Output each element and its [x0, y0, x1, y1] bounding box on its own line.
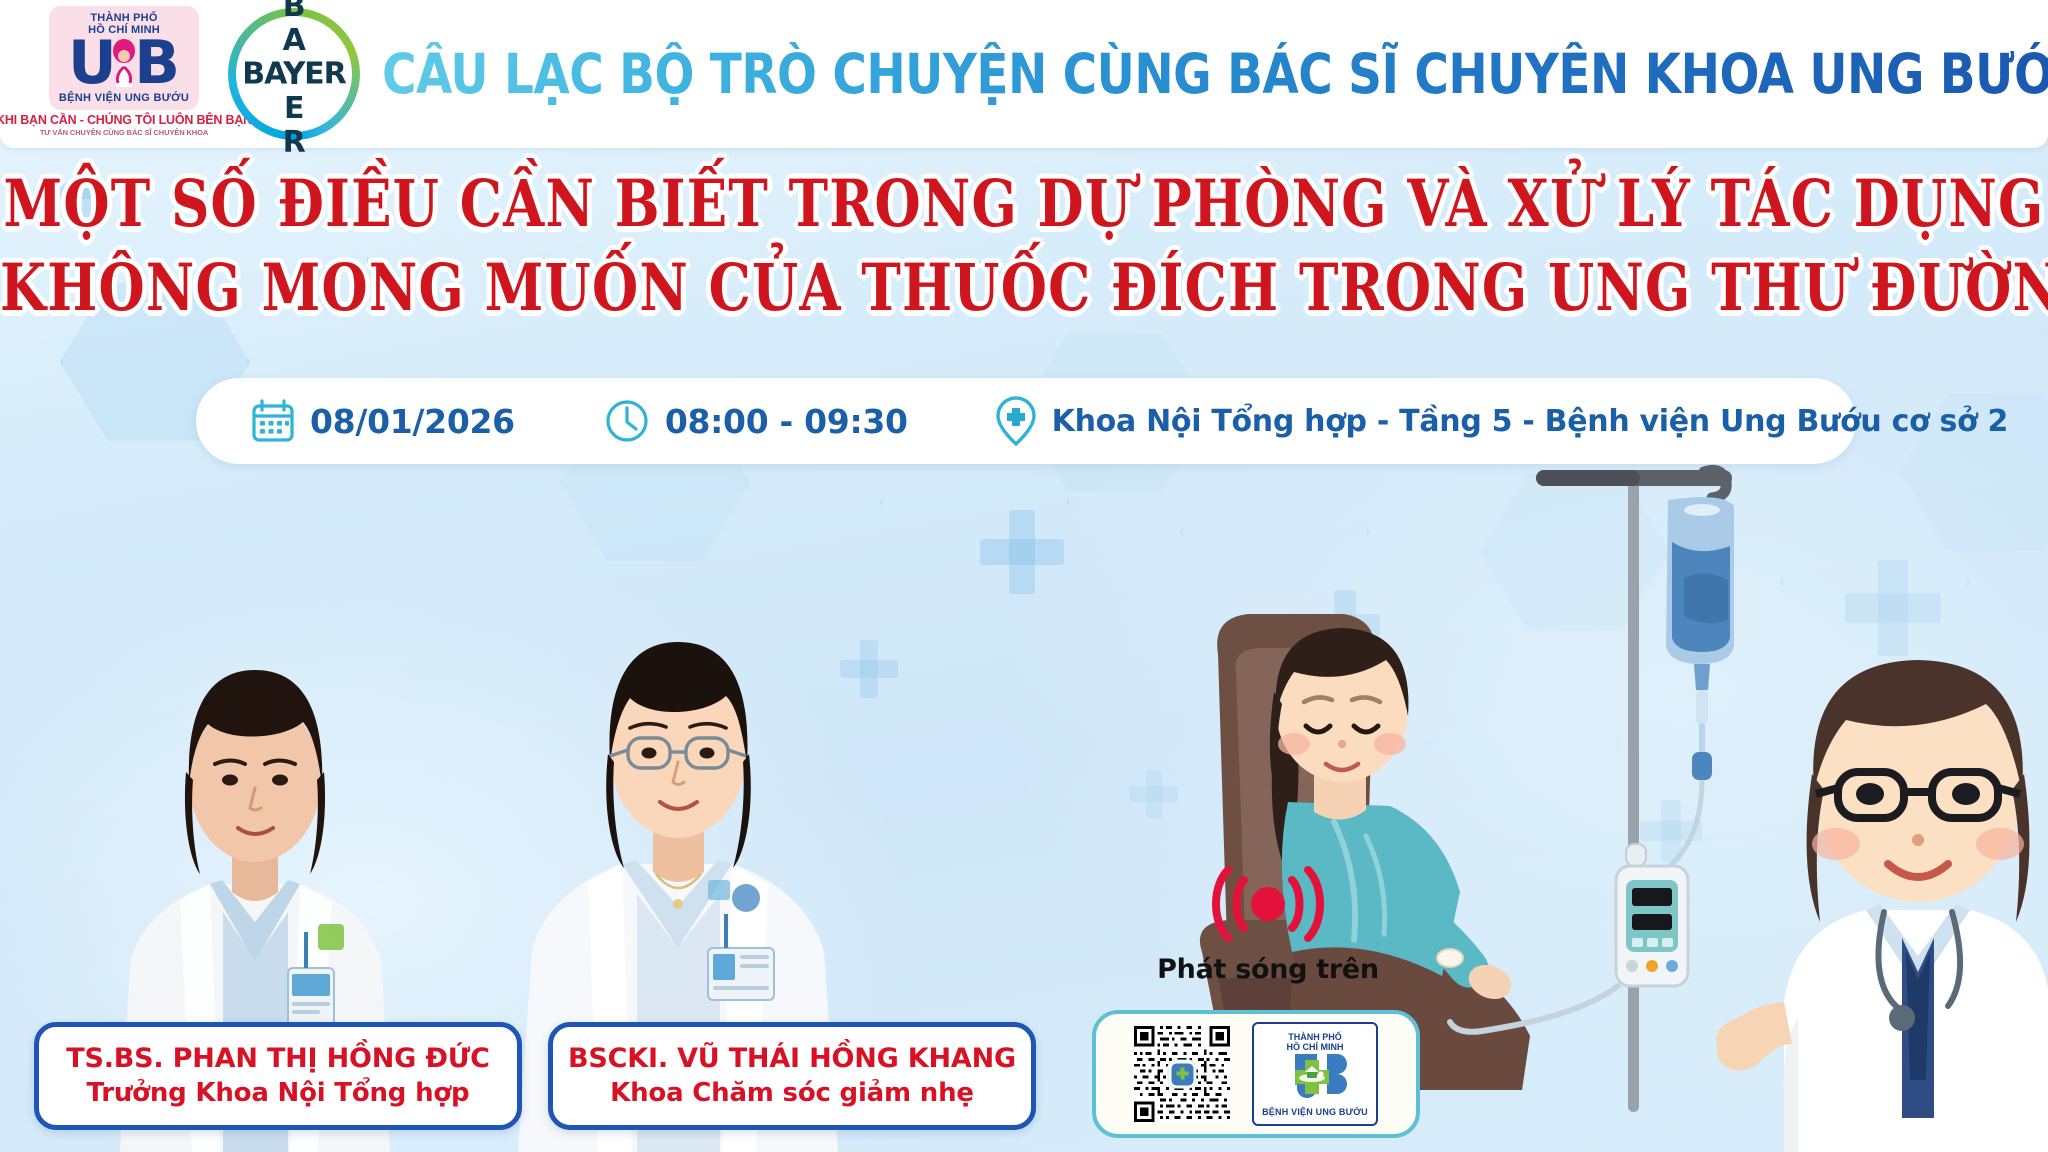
bayer-logo: BAYER BAYER — [228, 8, 360, 140]
speaker-1-name: TS.BS. PHAN THỊ HỒNG ĐỨC — [66, 1042, 489, 1076]
standing-doctor-figure — [1716, 660, 2048, 1152]
qr-logo-monogram-icon — [1277, 1052, 1353, 1104]
map-pin-medical-icon — [994, 395, 1038, 447]
clock-icon — [603, 397, 651, 445]
event-location: Khoa Nội Tổng hợp - Tầng 5 - Bệnh viện U… — [994, 395, 2008, 447]
broadcast-label: Phát sóng trên — [1157, 954, 1379, 985]
speaker-nameplate-2: BSCKI. VŨ THÁI HỒNG KHANG Khoa Chăm sóc … — [548, 1022, 1036, 1130]
poster-canvas: THÀNH PHỐ HỒ CHÍ MINH U B BỆNH VIỆN UNG … — [0, 0, 2048, 1152]
hospital-logo: THÀNH PHỐ HỒ CHÍ MINH U B BỆNH VIỆN UNG … — [26, 0, 222, 148]
event-time: 08:00 - 09:30 — [603, 397, 908, 445]
header-bar: THÀNH PHỐ HỒ CHÍ MINH U B BỆNH VIỆN UNG … — [0, 0, 2048, 148]
monogram-b: B — [134, 37, 180, 89]
ribbon-person-icon — [109, 39, 139, 89]
event-info-bar: 08/01/2026 08:00 - 09:30 Khoa Nội Tổng h… — [196, 378, 1856, 464]
hospital-subtagline: TƯ VẤN CHUYÊN CÙNG BÁC SĨ CHUYÊN KHOA — [40, 128, 208, 137]
bayer-inner: BAYER BAYER — [236, 16, 352, 132]
qr-center-logo-icon — [1169, 1061, 1196, 1088]
speaker-2-role: Khoa Chăm sóc giảm nhẹ — [610, 1076, 974, 1110]
event-date-text: 08/01/2026 — [310, 402, 515, 441]
header-title: CÂU LẠC BỘ TRÒ CHUYỆN CÙNG BÁC SĨ CHUYÊN… — [360, 42, 2048, 107]
qr-code-icon[interactable] — [1134, 1026, 1230, 1122]
speaker-2-name: BSCKI. VŨ THÁI HỒNG KHANG — [568, 1042, 1016, 1076]
live-broadcast-icon — [1208, 862, 1328, 946]
event-time-text: 08:00 - 09:30 — [665, 402, 908, 441]
event-title-line-2: KHÔNG MONG MUỐN CỦA THUỐC ĐÍCH TRONG UNG… — [0, 247, 2048, 330]
event-title-line-1: MỘT SỐ ĐIỀU CẦN BIẾT TRONG DỰ PHÒNG VÀ X… — [0, 163, 2048, 246]
broadcast-block: Phát sóng trên — [1148, 862, 1388, 985]
speaker-1-role: Trưởng Khoa Nội Tổng hợp — [87, 1076, 470, 1110]
hospital-tagline: KHI BẠN CẦN - CHÚNG TÔI LUÔN BÊN BẠN — [0, 113, 252, 127]
qr-card[interactable]: THÀNH PHỐ HỒ CHÍ MINH BỆNH VIỆN UNG BƯỚU — [1092, 1010, 1420, 1138]
event-location-text: Khoa Nội Tổng hợp - Tầng 5 - Bệnh viện U… — [1052, 404, 2008, 439]
qr-hospital-logo: THÀNH PHỐ HỒ CHÍ MINH BỆNH VIỆN UNG BƯỚU — [1252, 1022, 1378, 1126]
calendar-icon — [250, 398, 296, 444]
qr-logo-name: BỆNH VIỆN UNG BƯỚU — [1262, 1107, 1368, 1117]
speaker-nameplate-1: TS.BS. PHAN THỊ HỒNG ĐỨC Trưởng Khoa Nội… — [34, 1022, 522, 1130]
hospital-logo-card: THÀNH PHỐ HỒ CHÍ MINH U B BỆNH VIỆN UNG … — [49, 6, 199, 110]
bayer-horizontal-text: BAYER — [242, 57, 346, 92]
hospital-monogram-icon: U B — [66, 37, 182, 91]
event-date: 08/01/2026 — [250, 398, 515, 444]
qr-logo-city: THÀNH PHỐ HỒ CHÍ MINH — [1287, 1032, 1344, 1052]
event-title: MỘT SỐ ĐIỀU CẦN BIẾT TRONG DỰ PHÒNG VÀ X… — [0, 170, 2048, 322]
medical-cross-decor — [980, 510, 1064, 594]
